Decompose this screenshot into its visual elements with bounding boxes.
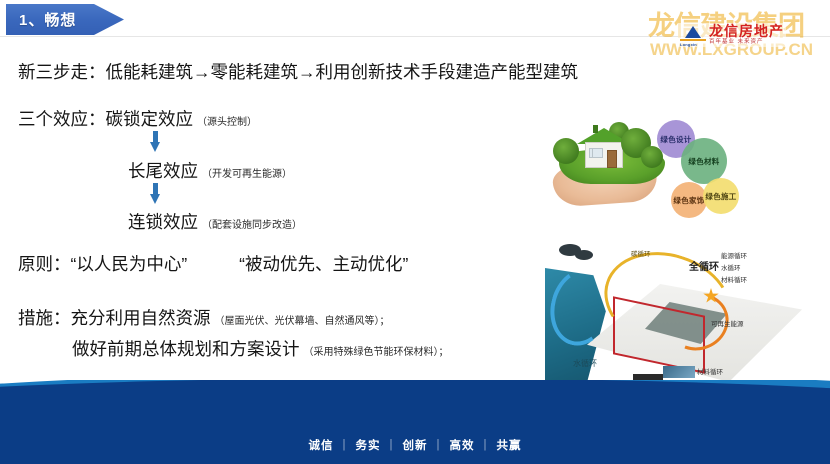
effect-carbon-lockin-note: （源头控制）	[197, 117, 257, 128]
measure-one-note: （屋面光伏、光伏幕墙、自然通风等）；	[215, 316, 390, 327]
line-principles: 原则：“以人民为中心”“被动优先、主动优化”	[18, 251, 408, 276]
label-water-cycle-right: 水循环	[721, 262, 741, 272]
slide-canvas: 1、畅想 龙信建设集团 WWW.LXGROUP.CN Longxin 龙信房地产…	[0, 0, 830, 464]
footer-slogan-group: 诚信 | 务实 | 创新 | 高效 | 共赢	[0, 437, 830, 453]
watermark-url-text: WWW.LXGROUP.CN	[650, 40, 813, 60]
logo-company-slogan: 百年基业 未来资产	[709, 40, 784, 46]
footer-separator: |	[437, 439, 441, 451]
effect-chain: 连锁效应	[128, 212, 198, 232]
line-measure-two: 做好前期总体规划和方案设计（采用特殊绿色节能环保材料）；	[72, 336, 449, 361]
effect-carbon-lockin: 碳锁定效应	[106, 109, 194, 129]
label-renewable-energy: 可再生能源	[711, 318, 744, 328]
bubble-green-decoration: 绿色家饰	[671, 182, 707, 218]
image-green-building-concept: 绿色设计 绿色材料 绿色家饰 绿色施工	[545, 110, 825, 230]
principle-quote-two: “被动优先、主动优化”	[239, 254, 408, 274]
logo-underline-shape	[680, 39, 706, 41]
effect-long-tail-note: （开发可再生能源）	[202, 169, 292, 180]
footer-value-4: 高效	[450, 437, 475, 453]
watermark-brand-text: 龙信建设集团	[648, 4, 804, 43]
house-door-illustration	[607, 150, 617, 168]
label-material-cycle-bottom: 材料循环	[697, 366, 723, 376]
label-energy-cycle: 能源循环	[721, 250, 747, 260]
image-full-cycle-diagram: 碳循环 全循环 能源循环 水循环 材料循环 可再生能源 水循环 材料循环	[545, 240, 825, 388]
principle-label: 原则：	[18, 254, 71, 274]
three-steps-label: 新三步走：	[18, 62, 106, 82]
header-divider	[0, 36, 830, 37]
principle-quote-one: “以人民为中心”	[71, 254, 188, 274]
solar-panel-illustration	[663, 366, 695, 378]
label-full-cycle-title: 全循环	[689, 258, 719, 273]
house-chimney-illustration	[593, 125, 598, 133]
footer-separator: |	[343, 439, 347, 451]
line-measure-one: 措施：充分利用自然资源（屋面光伏、光伏幕墙、自然通风等）；	[18, 305, 390, 330]
line-three-steps: 新三步走：低能耗建筑→零能耗建筑→利用创新技术手段建造产能型建筑	[18, 59, 578, 84]
watermark-group: 龙信建设集团 WWW.LXGROUP.CN Longxin 龙信房地产 百年基业…	[648, 4, 828, 60]
three-steps-value: 低能耗建筑→零能耗建筑→利用创新技术手段建造产能型建筑	[106, 62, 579, 82]
arrow-head	[150, 194, 160, 204]
rain-cloud-icon	[575, 250, 593, 260]
arrow-head	[150, 142, 160, 152]
line-long-tail-effect: 长尾效应（开发可再生能源）	[128, 158, 292, 183]
three-effects-label: 三个效应：	[18, 109, 106, 129]
house-window-illustration	[592, 148, 603, 158]
down-arrow-icon-2	[150, 183, 161, 205]
footer-value-3: 创新	[403, 437, 428, 453]
footer-value-1: 诚信	[309, 437, 334, 453]
measure-two-text: 做好前期总体规划和方案设计	[72, 339, 300, 359]
effect-long-tail: 长尾效应	[128, 161, 198, 181]
label-carbon-cycle: 碳循环	[631, 248, 651, 258]
badge-label: 1、畅想	[6, 9, 76, 30]
down-arrow-icon-1	[150, 131, 161, 153]
line-chain-effect: 连锁效应（配套设施同步改造）	[128, 209, 302, 234]
effect-chain-note: （配套设施同步改造）	[202, 220, 302, 231]
label-material-cycle-right: 材料循环	[721, 274, 747, 284]
section-badge[interactable]: 1、畅想	[6, 4, 124, 35]
company-logo: Longxin 龙信房地产 百年基业 未来资产	[678, 23, 786, 47]
label-water-cycle-bottom: 水循环	[573, 358, 597, 369]
logo-text-group: 龙信房地产 百年基业 未来资产	[709, 24, 784, 46]
measure-one-text: 充分利用自然资源	[71, 308, 211, 328]
measures-label: 措施：	[18, 308, 71, 328]
logo-triangle-icon: Longxin	[680, 25, 706, 45]
footer-separator: |	[484, 439, 488, 451]
footer-value-5: 共赢	[497, 437, 522, 453]
line-three-effects: 三个效应：碳锁定效应（源头控制）	[18, 106, 257, 131]
bubble-green-construction: 绿色施工	[703, 178, 739, 214]
footer-value-2: 务实	[356, 437, 381, 453]
measure-two-note: （采用特殊绿色节能环保材料）；	[304, 347, 449, 358]
tree-illustration	[553, 138, 579, 164]
logo-pinyin: Longxin	[680, 42, 697, 47]
footer-separator: |	[390, 439, 394, 451]
